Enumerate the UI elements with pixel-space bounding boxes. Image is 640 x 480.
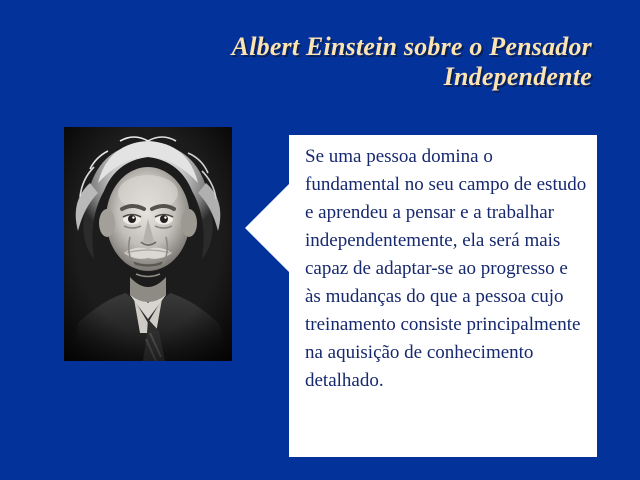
- portrait-artwork: [64, 127, 232, 361]
- quote-callout: Se uma pessoa domina o fundamental no se…: [245, 135, 597, 457]
- slide-canvas: Albert Einstein sobre o Pensador Indepen…: [0, 0, 640, 480]
- quote-box: Se uma pessoa domina o fundamental no se…: [289, 135, 597, 457]
- callout-tail-pointer: [245, 184, 289, 272]
- einstein-portrait-image: [64, 127, 232, 361]
- page-title: Albert Einstein sobre o Pensador Indepen…: [140, 32, 592, 92]
- quote-text: Se uma pessoa domina o fundamental no se…: [305, 143, 587, 395]
